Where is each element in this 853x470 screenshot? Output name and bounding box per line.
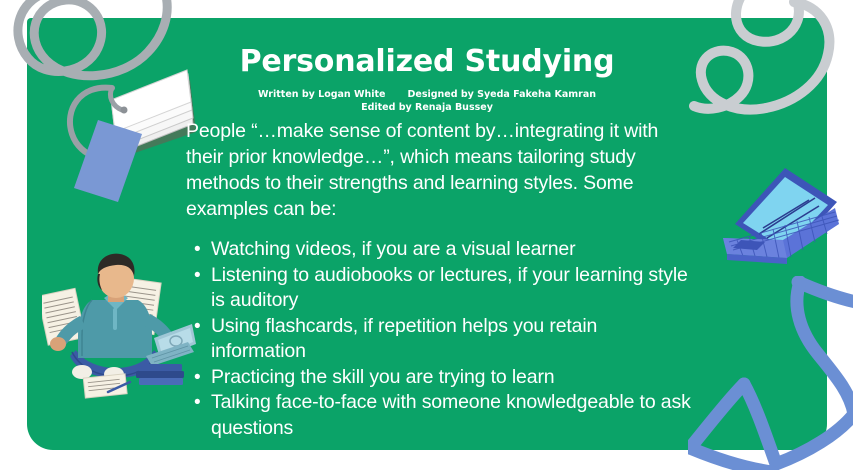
examples-bullet-list: Watching videos, if you are a visual lea… bbox=[186, 237, 696, 441]
body-paragraph: People “…make sense of content by…integr… bbox=[186, 118, 686, 222]
laptop-illustration bbox=[723, 162, 843, 297]
credit-edited-by: Edited by Renaja Bussey bbox=[361, 102, 493, 113]
credits-block: Written by Logan WhiteDesigned by Syeda … bbox=[27, 88, 827, 114]
studying-person-illustration bbox=[42, 252, 202, 407]
bullet-item: Practicing the skill you are trying to l… bbox=[186, 365, 696, 391]
flashcard-stack-illustration bbox=[50, 62, 200, 207]
page-title: Personalized Studying bbox=[27, 44, 827, 80]
bullet-item: Using flashcards, if repetition helps yo… bbox=[186, 314, 696, 365]
bullet-item: Watching videos, if you are a visual lea… bbox=[186, 237, 696, 263]
credit-written-by: Written by Logan White bbox=[258, 88, 386, 101]
slide-canvas: Personalized Studying Written by Logan W… bbox=[0, 0, 853, 470]
bullet-item: Talking face-to-face with someone knowle… bbox=[186, 390, 696, 441]
credit-designed-by: Designed by Syeda Fakeha Kamran bbox=[407, 88, 596, 101]
bullet-item: Listening to audiobooks or lectures, if … bbox=[186, 263, 696, 314]
